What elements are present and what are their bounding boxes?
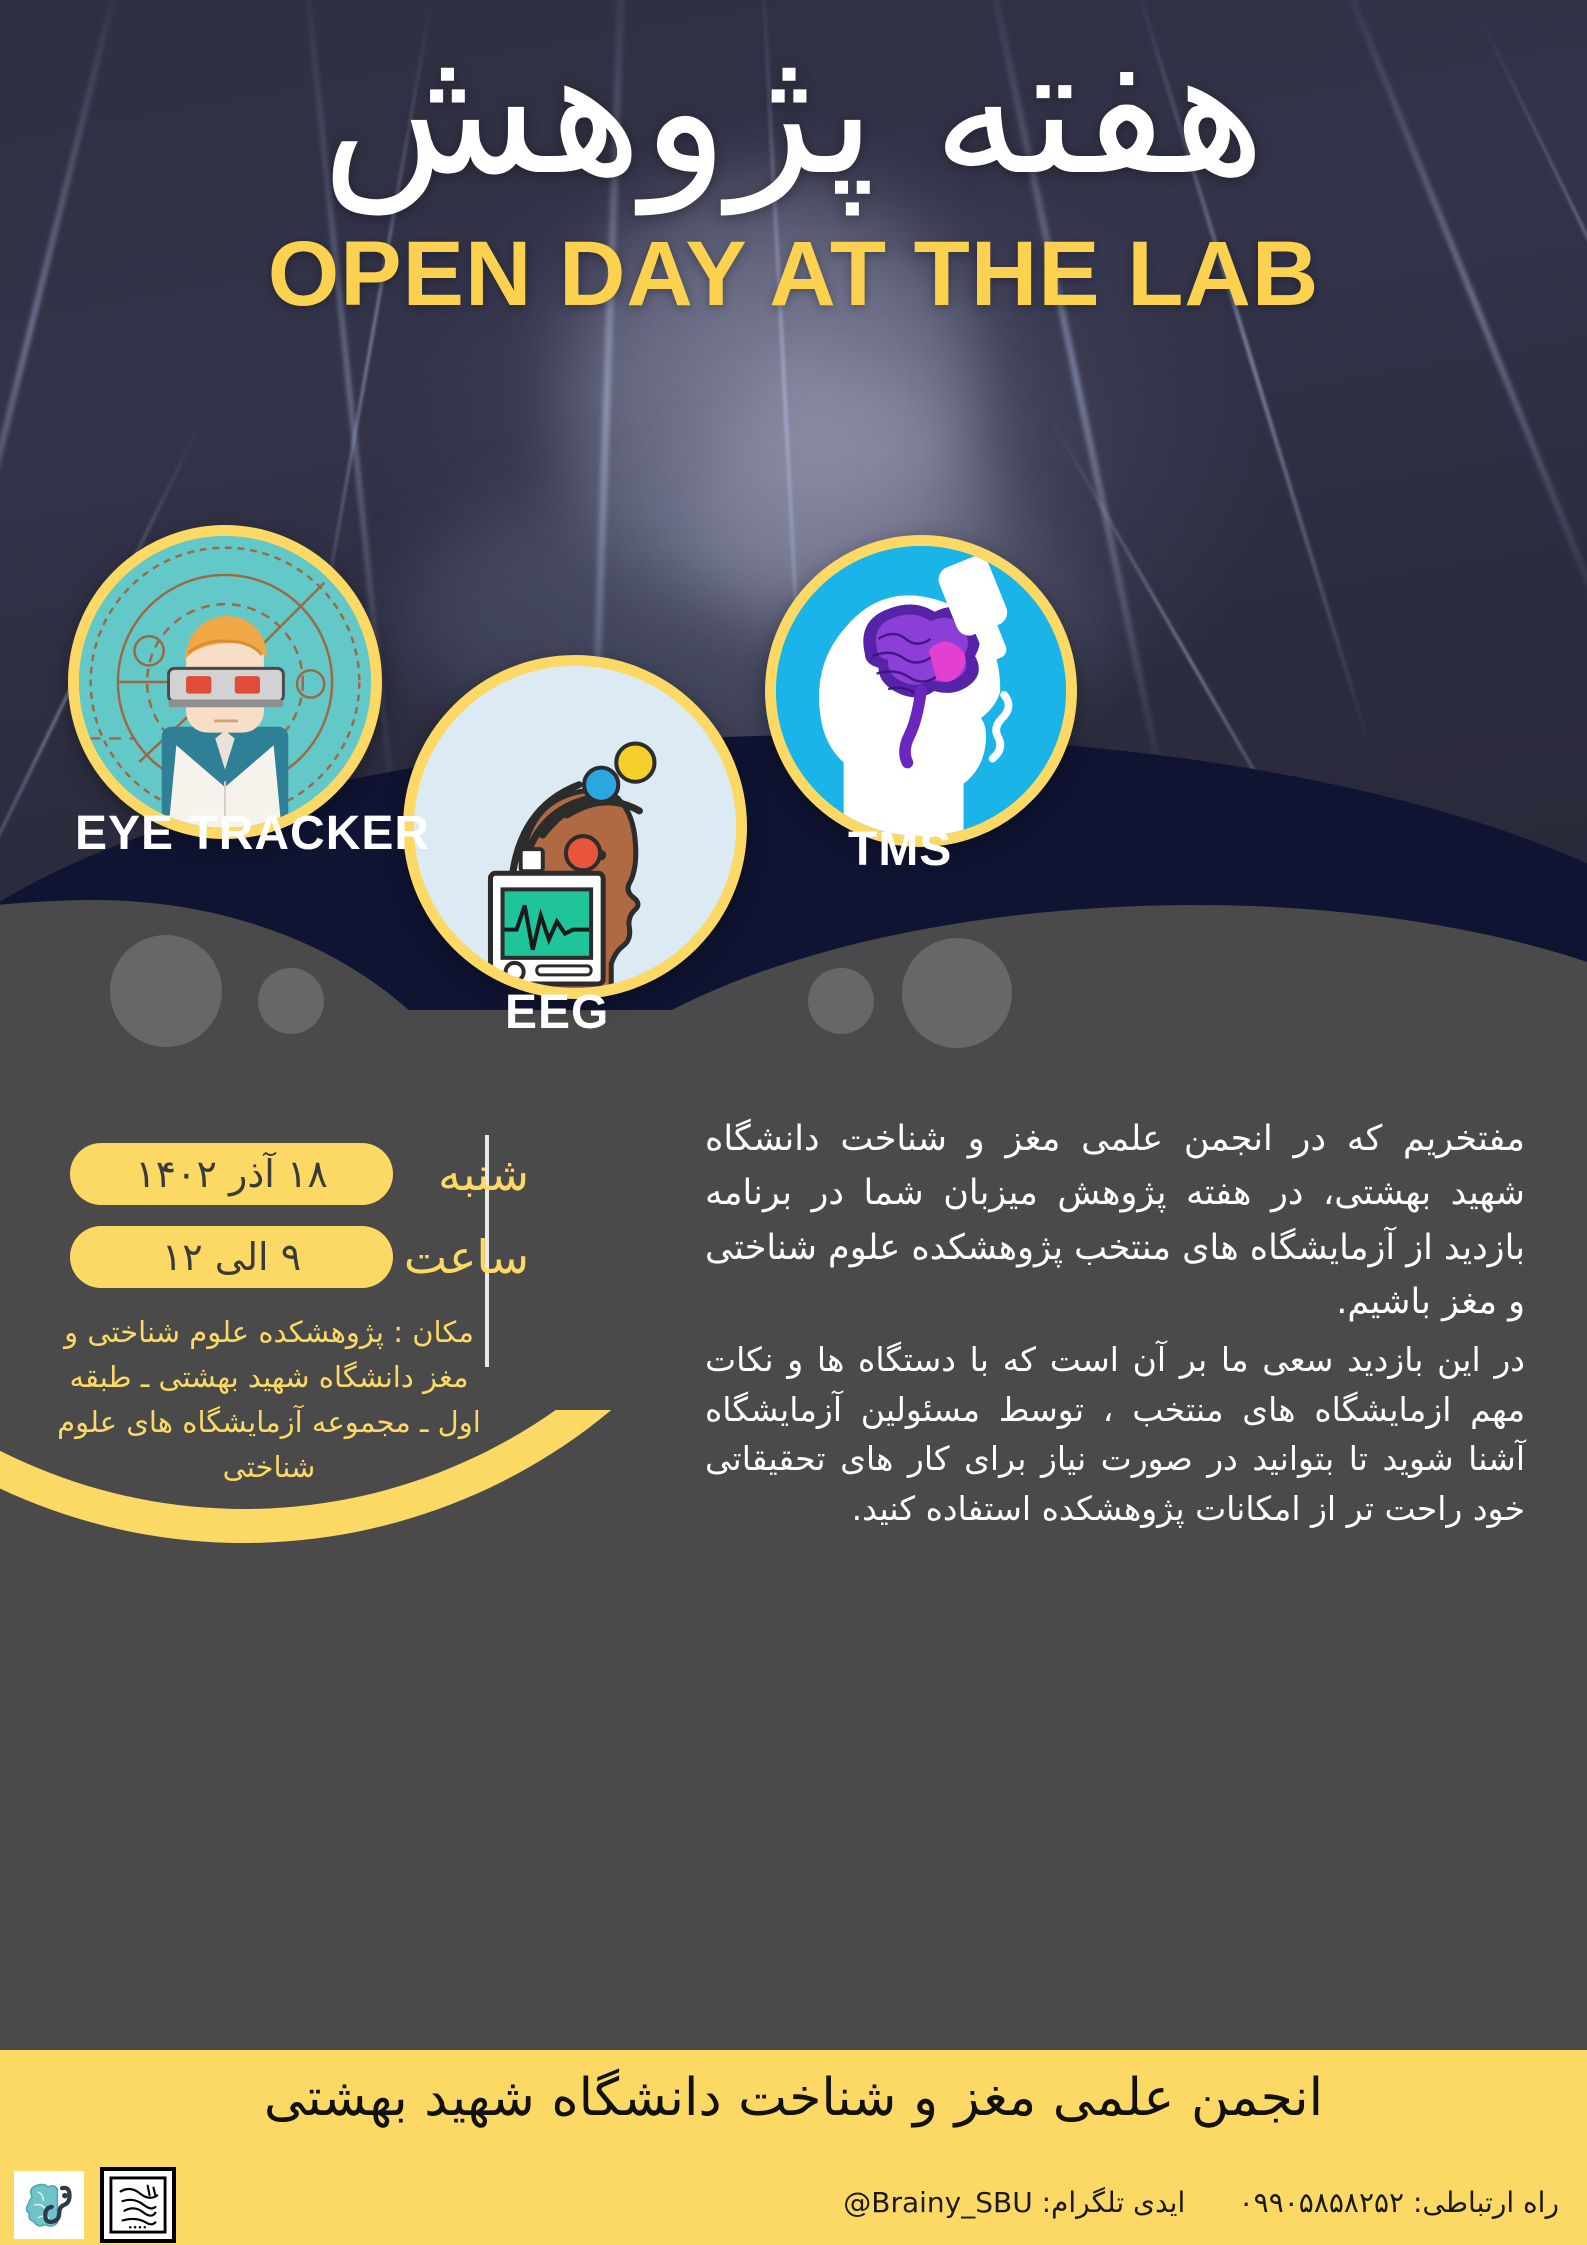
tms-circle[interactable] — [765, 535, 1077, 847]
eeg-circle[interactable] — [403, 655, 747, 999]
date-row: شنبه ۱۸ آذر ۱۴۰۲ — [70, 1143, 529, 1205]
location-text: مکان : پژوهشکده علوم شناختی و مغز دانشگا… — [44, 1310, 494, 1490]
decorative-oval — [902, 938, 1012, 1048]
description-paragraph-1: مفتخریم که در انجمن علمی مغز و شناخت دان… — [705, 1112, 1525, 1329]
decorative-oval — [808, 968, 874, 1034]
brain-logo-icon — [20, 2177, 78, 2233]
date-pill: ۱۸ آذر ۱۴۰۲ — [70, 1143, 393, 1205]
telegram-label: ایدی تلگرام: — [1042, 2186, 1186, 2219]
page-title-persian: هفته پژوهش — [0, 22, 1587, 200]
footer-organization: انجمن علمی مغز و شناخت دانشگاه شهید بهشت… — [0, 2068, 1587, 2128]
day-label: شنبه — [409, 1147, 529, 1201]
contact-label: راه ارتباطی: — [1413, 2186, 1559, 2219]
eye-tracker-icon — [79, 536, 371, 828]
association-brain-logo — [14, 2171, 84, 2239]
eeg-icon — [414, 666, 736, 988]
telegram-handle[interactable]: @Brainy_SBU — [843, 2186, 1032, 2219]
circle-label-eeg: EEG — [505, 985, 609, 1040]
circle-label-tms: TMS — [848, 822, 952, 877]
footer-logos — [14, 2167, 176, 2243]
contact-phone: ۰۹۹۰۵۸۵۸۲۵۲ — [1239, 2186, 1404, 2219]
tms-icon — [776, 546, 1066, 836]
eye-tracker-circle[interactable] — [68, 525, 382, 839]
poster-root: هفته پژوهش OPEN DAY AT THE LAB — [0, 0, 1587, 2245]
time-pill: ۹ الی ۱۲ — [70, 1226, 393, 1288]
circle-label-eye-tracker: EYE TRACKER — [75, 806, 430, 861]
decorative-oval — [110, 935, 222, 1047]
sbu-logo-icon — [109, 2176, 167, 2234]
page-title-english: OPEN DAY AT THE LAB — [0, 222, 1587, 327]
decorative-oval — [258, 968, 324, 1034]
time-label: ساعت — [409, 1230, 529, 1284]
sbu-university-logo — [100, 2167, 176, 2243]
contact-line: راه ارتباطی: ۰۹۹۰۵۸۵۸۲۵۲ ایدی تلگرام: @B… — [843, 2186, 1559, 2219]
description-block: مفتخریم که در انجمن علمی مغز و شناخت دان… — [705, 1112, 1525, 1539]
time-row: ساعت ۹ الی ۱۲ — [70, 1226, 529, 1288]
description-paragraph-2: در این بازدید سعی ما بر آن است که با دست… — [705, 1335, 1525, 1533]
